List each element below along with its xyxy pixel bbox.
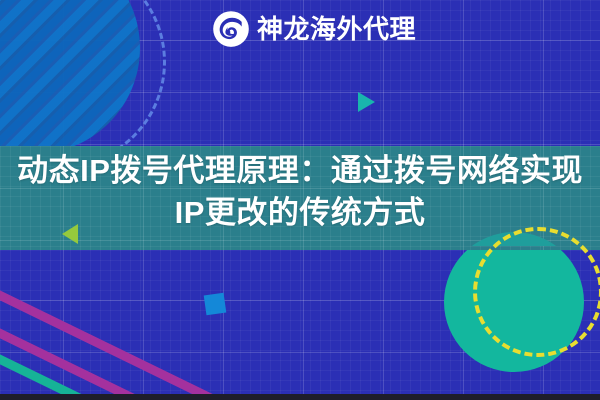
teal-triangle-right-icon	[358, 92, 375, 112]
dashed-circle-blue-decoration	[0, 0, 166, 168]
bottom-edge-strip	[0, 394, 600, 400]
dashed-circle-yellow-decoration	[473, 227, 600, 357]
rotated-blue-square-decoration	[204, 293, 227, 316]
brand-logo[interactable]: 神龙海外代理	[212, 10, 416, 48]
promo-banner: 神龙海外代理 动态IP拨号代理原理：通过拨号网络实现IP更改的传统方式	[0, 0, 600, 400]
brand-name-text: 神龙海外代理	[257, 16, 416, 42]
spiral-swirl-logo-icon	[212, 10, 250, 48]
headline-title: 动态IP拨号代理原理：通过拨号网络实现IP更改的传统方式	[0, 150, 600, 234]
